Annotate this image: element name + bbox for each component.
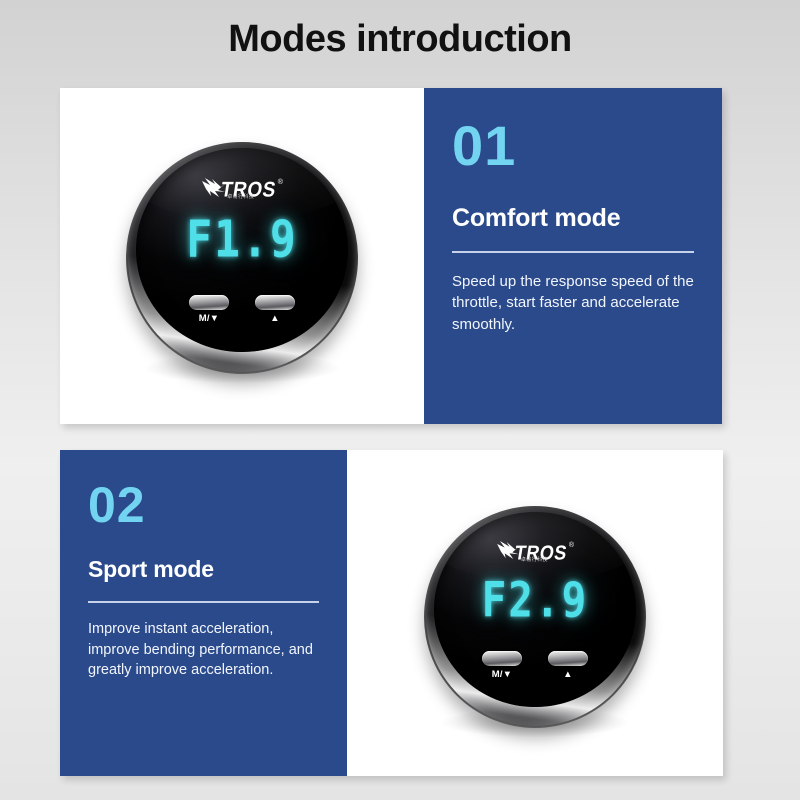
up-button-label: ▲ bbox=[270, 314, 280, 324]
mode-down-button-label: M/▼ bbox=[492, 670, 513, 680]
led-display: F2.9 bbox=[434, 572, 636, 629]
up-button-cap[interactable] bbox=[255, 295, 295, 310]
mode-down-button-cap[interactable] bbox=[189, 295, 229, 310]
device-button-row: M/▼ ▲ bbox=[136, 295, 347, 324]
page-title: Modes introduction bbox=[0, 18, 800, 61]
brand-subtext: 卓易行科技 bbox=[521, 556, 548, 563]
mode-down-button-cap[interactable] bbox=[482, 651, 522, 666]
mode-number: 02 bbox=[88, 480, 319, 530]
up-button-cap[interactable] bbox=[548, 651, 588, 666]
up-button-label: ▲ bbox=[563, 670, 573, 680]
brand-logo: TROS ® 卓易行科技 bbox=[136, 178, 347, 203]
mode-card-sport: 02 Sport mode Improve instant accelerati… bbox=[60, 450, 723, 776]
mode-down-button-label: M/▼ bbox=[199, 314, 220, 324]
throttle-controller-device: TROS ® 卓易行科技 F1.9 M/▼ ▲ bbox=[126, 142, 358, 374]
mode-info-panel: 01 Comfort mode Speed up the response sp… bbox=[424, 88, 722, 424]
device-button-row: M/▼ ▲ bbox=[434, 651, 636, 680]
led-display: F1.9 bbox=[136, 211, 347, 270]
title-divider bbox=[452, 251, 694, 253]
mode-down-button[interactable]: M/▼ bbox=[482, 651, 522, 680]
device-showcase-panel: TROS ® 卓易行科技 F2.9 M/▼ ▲ bbox=[347, 450, 723, 776]
mode-title: Comfort mode bbox=[452, 204, 694, 233]
registered-mark-icon: ® bbox=[278, 179, 283, 186]
mode-card-comfort: TROS ® 卓易行科技 F1.9 M/▼ ▲ bbox=[60, 88, 722, 424]
device-showcase-panel: TROS ® 卓易行科技 F1.9 M/▼ ▲ bbox=[60, 88, 424, 424]
device-glass-face: TROS ® 卓易行科技 F2.9 M/▼ ▲ bbox=[434, 512, 636, 707]
mode-down-button[interactable]: M/▼ bbox=[189, 295, 229, 324]
device-glass-face: TROS ® 卓易行科技 F1.9 M/▼ ▲ bbox=[136, 148, 347, 352]
brand-logo: TROS ® 卓易行科技 bbox=[434, 541, 636, 565]
brand-subtext: 卓易行科技 bbox=[227, 193, 254, 200]
mode-title: Sport mode bbox=[88, 556, 319, 583]
throttle-controller-device: TROS ® 卓易行科技 F2.9 M/▼ ▲ bbox=[424, 506, 646, 728]
mode-info-panel: 02 Sport mode Improve instant accelerati… bbox=[60, 450, 347, 776]
mode-description: Improve instant acceleration, improve be… bbox=[88, 619, 319, 681]
mode-description: Speed up the response speed of the throt… bbox=[452, 271, 694, 335]
up-button[interactable]: ▲ bbox=[548, 651, 588, 680]
title-divider bbox=[88, 601, 319, 603]
up-button[interactable]: ▲ bbox=[255, 295, 295, 324]
mode-number: 01 bbox=[452, 118, 694, 174]
registered-mark-icon: ® bbox=[569, 542, 574, 549]
